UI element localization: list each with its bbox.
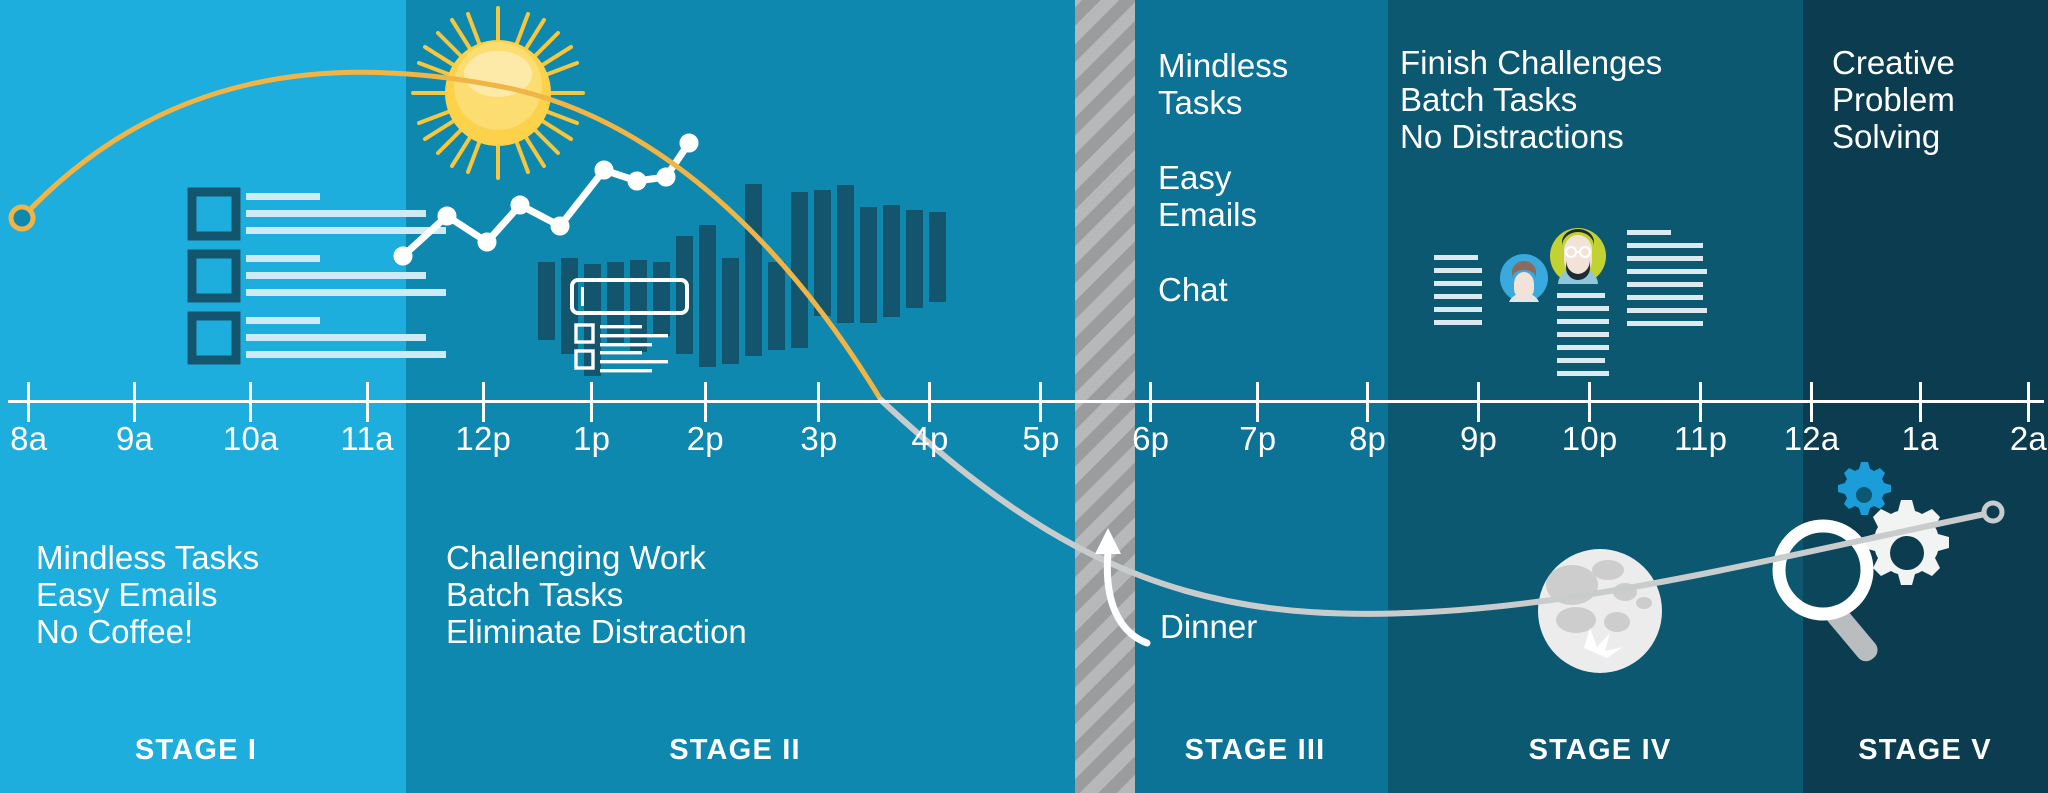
timeline-tick-label: 8a — [10, 420, 47, 458]
timeline-axis — [8, 400, 2044, 403]
timeline-tick — [1149, 382, 1152, 422]
stage-label-five: STAGE V — [1858, 734, 1992, 767]
stage-five-description: Creative Problem Solving — [1832, 45, 1955, 156]
stage-three-item-chat: Chat — [1158, 272, 1228, 309]
timeline-tick — [1699, 382, 1702, 422]
stage-panel-two — [406, 0, 1075, 793]
stage-label-four: STAGE IV — [1529, 734, 1672, 767]
timeline-tick-label: 9p — [1460, 420, 1497, 458]
timeline-tick — [366, 382, 369, 422]
timeline-tick — [1039, 382, 1042, 422]
stage-three-item-easy-emails: Easy Emails — [1158, 160, 1257, 234]
timeline-tick — [1477, 382, 1480, 422]
stage-label-one: STAGE I — [135, 734, 257, 767]
timeline-tick-label: 1a — [1901, 420, 1938, 458]
stage-panel-one — [0, 0, 406, 793]
stage-three-item-mindless-tasks: Mindless Tasks — [1158, 48, 1288, 122]
timeline-tick — [928, 382, 931, 422]
timeline-tick — [704, 382, 707, 422]
timeline-tick-label: 9a — [116, 420, 153, 458]
timeline-tick-label: 10a — [223, 420, 279, 458]
stage-label-two: STAGE II — [669, 734, 801, 767]
timeline-tick — [133, 382, 136, 422]
stage-label-three: STAGE III — [1185, 734, 1326, 767]
timeline-tick — [1256, 382, 1259, 422]
timeline-tick — [249, 382, 252, 422]
timeline-tick-label: 11p — [1674, 420, 1727, 458]
timeline-tick-label: 2p — [687, 420, 724, 458]
dinner-hatch-divider — [1075, 0, 1135, 793]
timeline-tick-label: 8p — [1349, 420, 1386, 458]
timeline-tick-label: 1p — [573, 420, 610, 458]
timeline-tick-label: 3p — [800, 420, 837, 458]
productivity-timeline-infographic: 8a9a10a11a12p1p2p3p4p5p6p7p8p9p10p11p12a… — [0, 0, 2048, 793]
stage-four-description: Finish Challenges Batch Tasks No Distrac… — [1400, 45, 1662, 156]
timeline-tick-label: 7p — [1239, 420, 1276, 458]
timeline-tick — [590, 382, 593, 422]
stage-two-description: Challenging Work Batch Tasks Eliminate D… — [446, 540, 747, 651]
timeline-tick — [1366, 382, 1369, 422]
timeline-tick-label: 2a — [2010, 420, 2047, 458]
timeline-tick — [1919, 382, 1922, 422]
timeline-tick — [1810, 382, 1813, 422]
timeline-tick-label: 12p — [455, 420, 511, 458]
timeline-tick-label: 5p — [1022, 420, 1059, 458]
timeline-tick-label: 11a — [340, 420, 393, 458]
timeline-tick — [27, 382, 30, 422]
timeline-tick-label: 4p — [911, 420, 948, 458]
dinner-annotation-label: Dinner — [1160, 608, 1257, 646]
timeline-tick — [817, 382, 820, 422]
timeline-tick-label: 10p — [1562, 420, 1618, 458]
timeline-tick — [1588, 382, 1591, 422]
timeline-tick-label: 6p — [1132, 420, 1169, 458]
timeline-tick — [482, 382, 485, 422]
stage-one-description: Mindless Tasks Easy Emails No Coffee! — [36, 540, 259, 651]
timeline-tick-label: 12a — [1784, 420, 1840, 458]
timeline-tick — [2027, 382, 2030, 422]
